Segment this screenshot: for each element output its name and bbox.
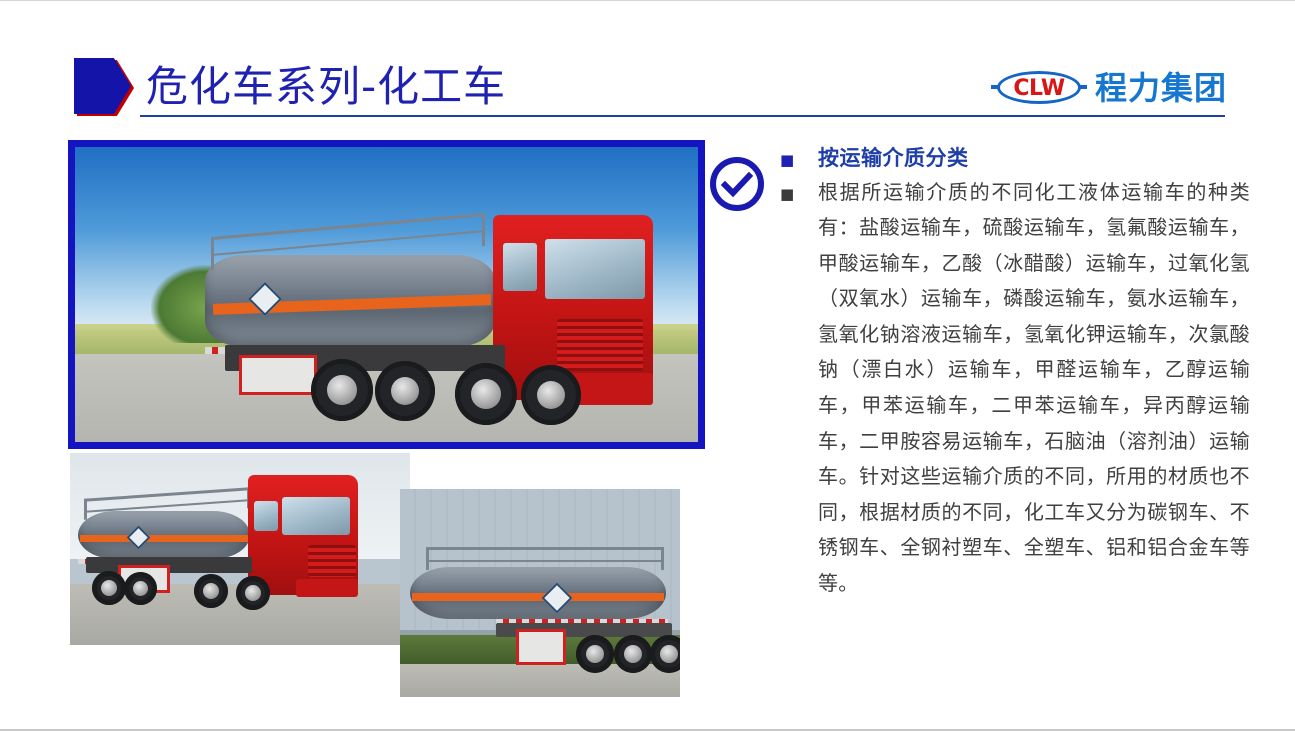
secondary-photo-scene [70, 453, 410, 645]
side-window [503, 243, 537, 291]
main-chemical-tanker-photo [68, 140, 705, 449]
tank-orange-stripe [80, 535, 248, 542]
wheel-front-2 [521, 365, 581, 425]
wheel-axle-1 [576, 635, 614, 673]
truck-cab [248, 475, 358, 595]
company-logo: CLW 程力集团 [991, 65, 1227, 111]
side-window [254, 501, 278, 531]
logo-mark-text: CLW [1013, 76, 1064, 101]
placard-box [516, 629, 566, 665]
tanker-semi-trailer-photo [400, 489, 680, 697]
wheel-rear-1 [311, 359, 373, 421]
trailer-photo-scene [400, 489, 680, 697]
bullet-item-body: ■ 根据所运输介质的不同化工液体运输车的种类有：盐酸运输车，硫酸运输车，氢氟酸运… [780, 175, 1250, 602]
check-circle-icon [708, 155, 766, 213]
bullet-marker-icon: ■ [780, 175, 818, 202]
wheel-axle-2 [614, 635, 652, 673]
wheel-front-2 [236, 576, 270, 610]
bullet-list: ■ 按运输介质分类 ■ 根据所运输介质的不同化工液体运输车的种类有：盐酸运输车，… [780, 141, 1250, 602]
media-column [0, 1, 710, 731]
wheel-rear-1 [92, 571, 126, 605]
logo-company-name: 程力集团 [1095, 72, 1227, 104]
windshield [545, 239, 645, 299]
wheel-front-1 [194, 574, 228, 608]
front-bumper [296, 579, 358, 597]
windshield [282, 497, 350, 535]
wheel-rear-2 [375, 361, 435, 421]
tank-walkway-rail [426, 547, 664, 570]
main-photo-scene [75, 147, 698, 442]
bullet-marker-icon: ■ [780, 141, 818, 168]
radiator-grille [557, 319, 643, 371]
wheel-rear-2 [124, 572, 157, 605]
secondary-chemical-tanker-photo [70, 453, 410, 645]
wheel-axle-3 [650, 635, 680, 673]
section-paragraph: 根据所运输介质的不同化工液体运输车的种类有：盐酸运输车，硫酸运输车，氢氟酸运输车… [818, 175, 1250, 602]
section-heading: 按运输介质分类 [818, 141, 969, 175]
clw-logo-badge: CLW [991, 69, 1087, 107]
tank-orange-stripe [412, 593, 664, 601]
bullet-item-heading: ■ 按运输介质分类 [780, 141, 1250, 175]
slide-root: 危化车系列-化工车 CLW 程力集团 [0, 0, 1295, 731]
logo-bar-right-icon [1078, 85, 1087, 89]
radiator-grille [308, 545, 356, 577]
wheel-front-1 [455, 363, 517, 425]
toolbox [239, 355, 317, 395]
